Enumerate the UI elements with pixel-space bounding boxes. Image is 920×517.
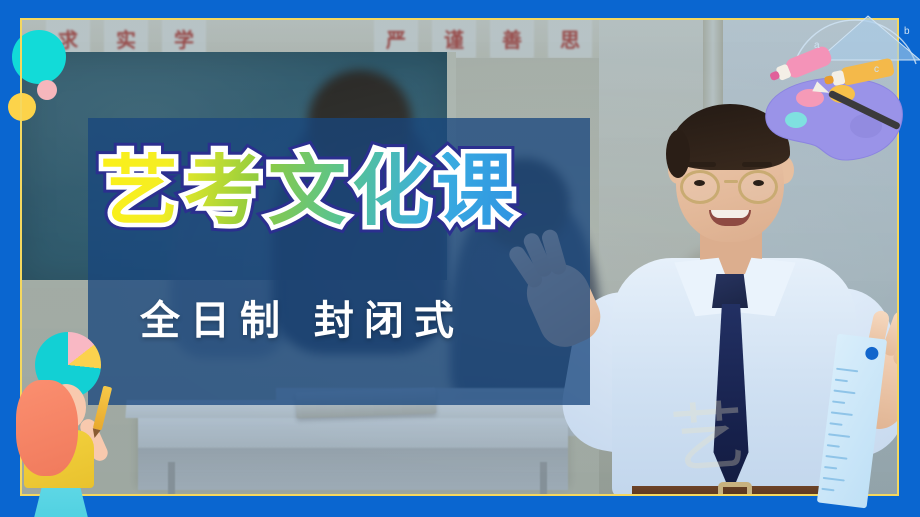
pink-circle-decoration [37,80,57,100]
student-girl-decoration [2,322,132,517]
main-title-fill: 艺考文化课 [100,152,520,230]
teacher-belt-buckle [718,482,752,496]
poster-canvas: 求 实 学 严 谨 善 思 [0,0,920,517]
teacher-teeth [711,210,749,218]
subtitle: 全日制 封闭式 [140,288,464,346]
pencil-icon [93,386,112,431]
teacher-tie-knot [712,274,748,308]
teacher-eye [694,180,705,186]
triangle-label-a: a [814,40,820,51]
teacher-glasses-bridge [724,180,738,183]
yellow-accent-line [20,18,22,223]
yellow-circle-decoration [8,93,36,121]
main-title: 艺考文化课 艺考文化课 艺考文化课 [100,152,620,252]
triangle-label-b: b [904,26,910,37]
girl-hair [16,380,78,476]
paint-palette-decoration: a b c [756,8,920,178]
triangle-label-c: c [874,64,879,75]
ruler-hole [865,346,879,360]
palette-svg: a b c [756,8,920,184]
frame-bottom [0,496,920,517]
teacher-glasses-lens [680,170,720,204]
teacher-eyebrow [686,162,716,167]
